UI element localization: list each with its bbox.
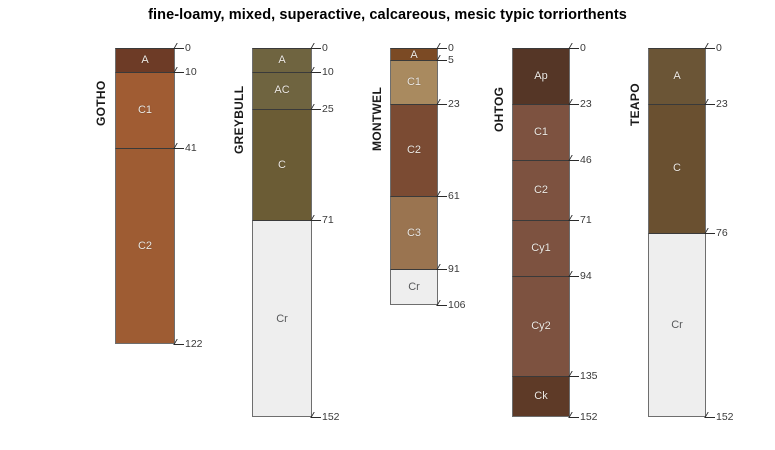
depth-label: 0 bbox=[185, 43, 191, 53]
horizon-label: C1 bbox=[116, 104, 174, 116]
depth-label: 71 bbox=[322, 215, 334, 225]
horizon-montwel-c2: C2 bbox=[390, 104, 438, 196]
depth-label: 91 bbox=[448, 264, 460, 274]
depth-tick bbox=[442, 48, 447, 49]
depth-label: 5 bbox=[448, 55, 454, 65]
profile-label-teapo: TEAPO bbox=[628, 83, 642, 126]
horizon-label: C bbox=[649, 162, 705, 174]
depth-tick bbox=[316, 48, 321, 49]
horizon-label: Cr bbox=[253, 313, 311, 325]
horizon-label: A bbox=[116, 54, 174, 66]
depth-tick bbox=[574, 276, 579, 277]
horizon-ohtog-ck: Ck bbox=[512, 376, 570, 417]
horizon-montwel-c3: C3 bbox=[390, 196, 438, 269]
depth-label: 10 bbox=[185, 67, 197, 77]
depth-label: 25 bbox=[322, 104, 334, 114]
horizon-label: A bbox=[649, 70, 705, 82]
depth-label: 94 bbox=[580, 271, 592, 281]
horizon-label: Cy2 bbox=[513, 320, 569, 332]
horizon-label: Ap bbox=[513, 70, 569, 82]
depth-label: 0 bbox=[580, 43, 586, 53]
horizon-label: A bbox=[391, 49, 437, 60]
depth-label: 10 bbox=[322, 67, 334, 77]
horizon-label: A bbox=[253, 54, 311, 66]
horizon-teapo-a: A bbox=[648, 48, 706, 104]
depth-tick bbox=[710, 48, 715, 49]
depth-label: 152 bbox=[322, 412, 340, 422]
depth-tick bbox=[574, 48, 579, 49]
horizon-ohtog-cy2: Cy2 bbox=[512, 276, 570, 376]
depth-label: 23 bbox=[716, 99, 728, 109]
profile-label-greybull: GREYBULL bbox=[232, 86, 246, 154]
depth-tick bbox=[316, 109, 321, 110]
depth-label: 0 bbox=[716, 43, 722, 53]
depth-label: 46 bbox=[580, 155, 592, 165]
depth-label: 122 bbox=[185, 339, 203, 349]
depth-tick bbox=[574, 376, 579, 377]
horizon-greybull-ac: AC bbox=[252, 72, 312, 108]
horizon-label: C bbox=[253, 159, 311, 171]
horizon-greybull-cr: Cr bbox=[252, 220, 312, 417]
depth-label: 152 bbox=[716, 412, 734, 422]
depth-label: 41 bbox=[185, 143, 197, 153]
profile-label-ohtog: OHTOG bbox=[492, 87, 506, 132]
depth-label: 0 bbox=[322, 43, 328, 53]
page-title: fine-loamy, mixed, superactive, calcareo… bbox=[0, 0, 775, 30]
profile-label-gotho: GOTHO bbox=[94, 81, 108, 127]
depth-tick bbox=[179, 72, 184, 73]
depth-tick bbox=[316, 220, 321, 221]
horizon-teapo-c: C bbox=[648, 104, 706, 233]
depth-tick bbox=[442, 305, 447, 306]
depth-label: 0 bbox=[448, 43, 454, 53]
depth-label: 71 bbox=[580, 215, 592, 225]
depth-tick bbox=[442, 269, 447, 270]
depth-tick bbox=[710, 104, 715, 105]
horizon-label: Cy1 bbox=[513, 242, 569, 254]
horizon-ohtog-c2: C2 bbox=[512, 160, 570, 221]
profile-label-montwel: MONTWEL bbox=[370, 87, 384, 151]
horizon-label: C1 bbox=[391, 76, 437, 88]
depth-tick bbox=[574, 417, 579, 418]
horizon-label: C2 bbox=[116, 240, 174, 252]
depth-tick bbox=[316, 417, 321, 418]
depth-tick bbox=[179, 48, 184, 49]
depth-tick bbox=[442, 104, 447, 105]
depth-tick bbox=[442, 196, 447, 197]
depth-label: 135 bbox=[580, 371, 598, 381]
depth-tick bbox=[442, 60, 447, 61]
horizon-label: AC bbox=[253, 84, 311, 96]
depth-tick bbox=[574, 160, 579, 161]
horizon-montwel-a: A bbox=[390, 48, 438, 60]
horizon-montwel-c1: C1 bbox=[390, 60, 438, 104]
depth-tick bbox=[574, 220, 579, 221]
depth-label: 106 bbox=[448, 300, 466, 310]
horizon-label: Ck bbox=[513, 390, 569, 402]
horizon-ohtog-c1: C1 bbox=[512, 104, 570, 160]
horizon-montwel-cr: Cr bbox=[390, 269, 438, 305]
depth-label: 76 bbox=[716, 228, 728, 238]
horizon-label: C3 bbox=[391, 227, 437, 239]
depth-tick bbox=[316, 72, 321, 73]
horizon-ohtog-ap: Ap bbox=[512, 48, 570, 104]
depth-tick bbox=[710, 233, 715, 234]
horizon-gotho-c1: C1 bbox=[115, 72, 175, 147]
horizon-gotho-a: A bbox=[115, 48, 175, 72]
horizon-label: Cr bbox=[391, 281, 437, 293]
depth-label: 61 bbox=[448, 191, 460, 201]
horizon-label: C2 bbox=[513, 184, 569, 196]
depth-tick bbox=[179, 344, 184, 345]
horizon-label: Cr bbox=[649, 319, 705, 331]
horizon-greybull-a: A bbox=[252, 48, 312, 72]
depth-label: 23 bbox=[580, 99, 592, 109]
horizon-label: C2 bbox=[391, 144, 437, 156]
horizon-teapo-cr: Cr bbox=[648, 233, 706, 418]
depth-label: 152 bbox=[580, 412, 598, 422]
horizon-label: C1 bbox=[513, 126, 569, 138]
depth-tick bbox=[574, 104, 579, 105]
depth-tick bbox=[179, 148, 184, 149]
depth-tick bbox=[710, 417, 715, 418]
horizon-greybull-c: C bbox=[252, 109, 312, 221]
depth-label: 23 bbox=[448, 99, 460, 109]
horizon-ohtog-cy1: Cy1 bbox=[512, 220, 570, 276]
horizon-gotho-c2: C2 bbox=[115, 148, 175, 345]
